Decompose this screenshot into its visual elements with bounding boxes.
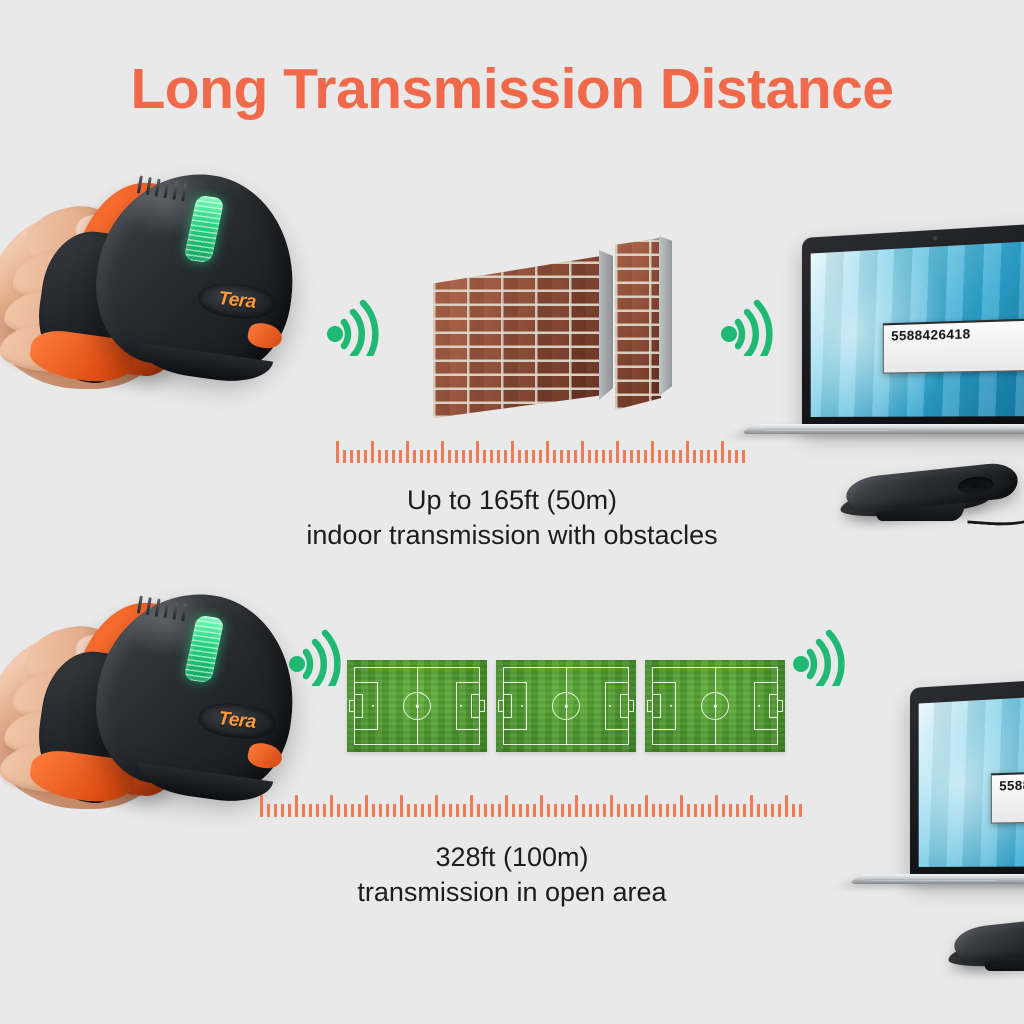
ruler-tick-minor (420, 450, 423, 463)
ruler-tick-minor (728, 450, 731, 463)
ruler-tick-minor (701, 804, 704, 817)
caption-open: 328ft (100m) transmission in open area (0, 840, 1024, 910)
ruler-tick-minor (309, 804, 312, 817)
ruler-tick-minor (560, 450, 563, 463)
laptop-base-lip (763, 429, 892, 430)
ruler-tick-minor (477, 804, 480, 817)
ruler-tick-minor (372, 804, 375, 817)
ruler-tick-major (680, 795, 683, 817)
ruler-tick-minor (343, 450, 346, 463)
ruler-tick-major (785, 795, 788, 817)
ruler-tick-minor (462, 450, 465, 463)
ruler-tick-major (715, 795, 718, 817)
ruler-tick-minor (735, 450, 738, 463)
ruler-tick-minor (567, 450, 570, 463)
wifi-signal-icon-scanner-indoor (324, 296, 382, 356)
ruler-tick-minor (700, 450, 703, 463)
ruler-tick-major (365, 795, 368, 817)
ruler-tick-major (330, 795, 333, 817)
ruler-tick-minor (392, 450, 395, 463)
ruler-tick-minor (491, 804, 494, 817)
ruler-tick-major (470, 795, 473, 817)
ruler-tick-minor (519, 804, 522, 817)
ruler-tick-minor (378, 450, 381, 463)
ruler-tick-minor (624, 804, 627, 817)
receiver-cradle (948, 920, 1024, 982)
ruler-tick-minor (413, 450, 416, 463)
ruler-tick-minor (532, 450, 535, 463)
distance-ruler-indoor (336, 441, 749, 463)
ruler-tick-minor (623, 450, 626, 463)
soccer-field (347, 660, 487, 752)
soccer-field-group (347, 660, 785, 752)
scanner-brand-label: Tera (217, 708, 257, 734)
ruler-tick-minor (267, 804, 270, 817)
ruler-tick-minor (512, 804, 515, 817)
ruler-tick-minor (421, 804, 424, 817)
infographic-canvas: Long Transmission Distance Tera (0, 0, 1024, 1024)
ruler-tick-minor (659, 804, 662, 817)
ruler-tick-minor (742, 450, 745, 463)
ruler-tick-minor (358, 804, 361, 817)
ruler-tick-major (645, 795, 648, 817)
ruler-tick-major (406, 441, 409, 463)
ruler-tick-major (616, 441, 619, 463)
ruler-tick-minor (693, 450, 696, 463)
ruler-tick-major (610, 795, 613, 817)
ruler-tick-minor (672, 450, 675, 463)
ruler-tick-minor (554, 804, 557, 817)
laptop-webcam (933, 236, 937, 240)
wifi-signal-icon-receiver-open (790, 626, 848, 686)
ruler-tick-minor (533, 804, 536, 817)
ruler-tick-major (441, 441, 444, 463)
ruler-tick-major (476, 441, 479, 463)
ruler-tick-minor (497, 450, 500, 463)
barcode-scanner-in-hand-indoor: Tera (0, 166, 316, 406)
laptop-base (740, 424, 1024, 434)
ruler-tick-major (750, 795, 753, 817)
soccer-field (496, 660, 636, 752)
ruler-tick-minor (484, 804, 487, 817)
ruler-tick-minor (589, 804, 592, 817)
ruler-tick-minor (707, 450, 710, 463)
ruler-tick-major (581, 441, 584, 463)
ruler-tick-minor (778, 804, 781, 817)
ruler-tick-minor (463, 804, 466, 817)
ruler-tick-minor (617, 804, 620, 817)
ruler-tick-minor (799, 804, 802, 817)
ruler-tick-minor (638, 804, 641, 817)
ruler-tick-minor (414, 804, 417, 817)
ruler-tick-minor (539, 450, 542, 463)
ruler-tick-minor (385, 450, 388, 463)
barcode-scanner-in-hand-open: Tera (0, 586, 316, 826)
ruler-tick-major (400, 795, 403, 817)
ruler-tick-minor (679, 450, 682, 463)
ruler-tick-minor (386, 804, 389, 817)
ruler-tick-minor (561, 804, 564, 817)
ruler-tick-major (505, 795, 508, 817)
ruler-tick-major (546, 441, 549, 463)
ruler-tick-minor (302, 804, 305, 817)
ruler-tick-minor (673, 804, 676, 817)
ruler-tick-minor (694, 804, 697, 817)
caption-indoor: Up to 165ft (50m) indoor transmission wi… (0, 483, 1024, 553)
ruler-tick-minor (393, 804, 396, 817)
ruler-tick-minor (350, 450, 353, 463)
ruler-tick-minor (504, 450, 507, 463)
ruler-tick-minor (498, 804, 501, 817)
ruler-tick-minor (323, 804, 326, 817)
ruler-tick-minor (596, 804, 599, 817)
brick-wall-panel-1 (433, 256, 601, 418)
ruler-tick-minor (442, 804, 445, 817)
ruler-tick-minor (483, 450, 486, 463)
ruler-tick-minor (637, 450, 640, 463)
ruler-tick-minor (644, 450, 647, 463)
brick-wall-panel-2 (615, 238, 661, 410)
ruler-tick-major (511, 441, 514, 463)
laptop-screen: 5588426418 (811, 239, 1024, 417)
ruler-tick-minor (771, 804, 774, 817)
ruler-tick-major (295, 795, 298, 817)
ruler-tick-minor (407, 804, 410, 817)
ruler-tick-minor (357, 450, 360, 463)
brick-wall-obstacle (415, 228, 677, 418)
scanned-barcode-textbox: 5588426418 (991, 768, 1024, 823)
laptop-lid: 5588426418 (802, 221, 1024, 428)
ruler-tick-minor (729, 804, 732, 817)
ruler-tick-minor (449, 804, 452, 817)
ruler-tick-minor (764, 804, 767, 817)
ruler-tick-minor (582, 804, 585, 817)
ruler-tick-minor (455, 450, 458, 463)
ruler-tick-minor (337, 804, 340, 817)
scanned-barcode-value: 5588426418 (999, 775, 1024, 793)
distance-ruler-open (260, 795, 806, 817)
scanner-brand-label: Tera (217, 288, 257, 314)
ruler-tick-major (540, 795, 543, 817)
ruler-tick-minor (722, 804, 725, 817)
ruler-tick-minor (526, 804, 529, 817)
ruler-tick-minor (714, 450, 717, 463)
ruler-tick-minor (490, 450, 493, 463)
ruler-tick-minor (288, 804, 291, 817)
ruler-tick-minor (399, 450, 402, 463)
ruler-tick-minor (631, 804, 634, 817)
ruler-tick-minor (743, 804, 746, 817)
ruler-tick-minor (547, 804, 550, 817)
scanned-barcode-textbox: 5588426418 (883, 318, 1024, 373)
ruler-tick-minor (427, 450, 430, 463)
ruler-tick-minor (428, 804, 431, 817)
ruler-tick-minor (364, 450, 367, 463)
ruler-tick-minor (518, 450, 521, 463)
ruler-tick-major (686, 441, 689, 463)
ruler-tick-major (651, 441, 654, 463)
ruler-tick-minor (316, 804, 319, 817)
brick-wall-panel-2-side (659, 236, 672, 396)
laptop-with-receiver-open: 5588426418 (862, 688, 1024, 988)
ruler-tick-major (575, 795, 578, 817)
ruler-tick-minor (602, 450, 605, 463)
ruler-tick-minor (658, 450, 661, 463)
page-title: Long Transmission Distance (0, 56, 1024, 122)
ruler-tick-minor (553, 450, 556, 463)
ruler-tick-major (336, 441, 339, 463)
scanned-barcode-value: 5588426418 (891, 325, 970, 343)
ruler-tick-major (260, 795, 263, 817)
ruler-tick-minor (456, 804, 459, 817)
ruler-tick-minor (708, 804, 711, 817)
ruler-tick-minor (281, 804, 284, 817)
ruler-tick-minor (609, 450, 612, 463)
cradle-body (953, 911, 1024, 965)
ruler-tick-minor (652, 804, 655, 817)
brick-wall-panel-1-side (599, 250, 613, 400)
ruler-tick-minor (665, 450, 668, 463)
ruler-tick-minor (687, 804, 690, 817)
ruler-tick-minor (736, 804, 739, 817)
ruler-tick-major (721, 441, 724, 463)
ruler-tick-minor (469, 450, 472, 463)
ruler-tick-minor (603, 804, 606, 817)
wifi-signal-icon-scanner-open (286, 626, 344, 686)
ruler-tick-minor (630, 450, 633, 463)
ruler-tick-minor (757, 804, 760, 817)
ruler-tick-minor (792, 804, 795, 817)
ruler-tick-minor (274, 804, 277, 817)
ruler-tick-minor (379, 804, 382, 817)
ruler-tick-minor (666, 804, 669, 817)
ruler-tick-minor (595, 450, 598, 463)
ruler-tick-minor (434, 450, 437, 463)
ruler-tick-minor (351, 804, 354, 817)
ruler-tick-minor (574, 450, 577, 463)
ruler-tick-major (371, 441, 374, 463)
ruler-tick-major (435, 795, 438, 817)
soccer-field (645, 660, 785, 752)
ruler-tick-minor (568, 804, 571, 817)
ruler-tick-minor (588, 450, 591, 463)
ruler-tick-minor (344, 804, 347, 817)
ruler-tick-minor (525, 450, 528, 463)
ruler-tick-minor (448, 450, 451, 463)
